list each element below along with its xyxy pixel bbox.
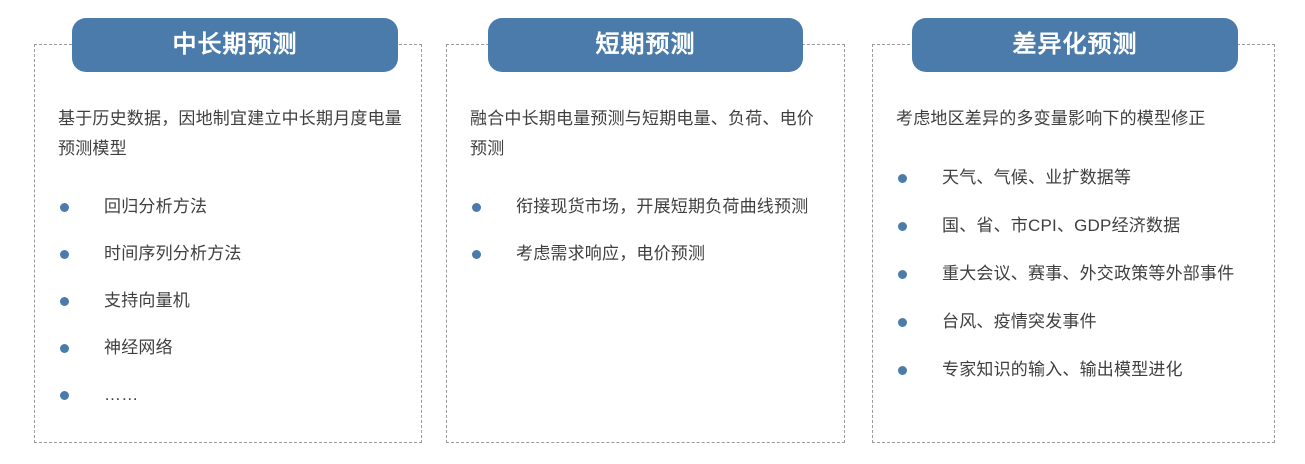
- list-item-label: 国、省、市CPI、GDP经济数据: [942, 216, 1180, 235]
- panel-content-short-term-forecast: 融合中长期电量预测与短期电量、负荷、电价预测 衔接现货市场，开展短期负荷曲线预测…: [470, 104, 830, 269]
- bullet-dot-icon: [472, 250, 481, 259]
- list-item: 时间序列分析方法: [58, 239, 406, 269]
- list-item-label: ……: [104, 385, 138, 404]
- list-item-label: 支持向量机: [104, 291, 190, 310]
- list-item-label: 回归分析方法: [104, 197, 207, 216]
- bullet-list-differentiated-forecast: 天气、气候、业扩数据等 国、省、市CPI、GDP经济数据 重大会议、赛事、外交政…: [896, 163, 1264, 385]
- list-item: 回归分析方法: [58, 192, 406, 222]
- list-item: 台风、疫情突发事件: [896, 307, 1264, 337]
- bullet-dot-icon: [60, 391, 69, 400]
- list-item: ……: [58, 380, 406, 410]
- bullet-dot-icon: [60, 203, 69, 212]
- list-item: 天气、气候、业扩数据等: [896, 163, 1264, 193]
- panel-intro-text: 考虑地区差异的多变量影响下的模型修正: [896, 104, 1264, 134]
- forecast-overview-diagram: 中长期预测 基于历史数据，因地制宜建立中长期月度电量预测模型 回归分析方法 时间…: [0, 0, 1305, 464]
- list-item: 国、省、市CPI、GDP经济数据: [896, 211, 1264, 241]
- bullet-dot-icon: [898, 270, 907, 279]
- list-item-label: 天气、气候、业扩数据等: [942, 168, 1131, 187]
- bullet-list-short-term-forecast: 衔接现货市场，开展短期负荷曲线预测 考虑需求响应，电价预测: [470, 192, 830, 269]
- list-item-label: 台风、疫情突发事件: [942, 312, 1097, 331]
- list-item: 神经网络: [58, 333, 406, 363]
- list-item: 衔接现货市场，开展短期负荷曲线预测: [470, 192, 830, 222]
- bullet-dot-icon: [60, 297, 69, 306]
- panel-title-short-term-forecast: 短期预测: [488, 18, 803, 72]
- list-item-label: 衔接现货市场，开展短期负荷曲线预测: [516, 197, 808, 216]
- bullet-dot-icon: [472, 203, 481, 212]
- list-item-label: 神经网络: [104, 338, 173, 357]
- list-item-label: 专家知识的输入、输出模型进化: [942, 360, 1183, 379]
- list-item: 考虑需求响应，电价预测: [470, 239, 830, 269]
- list-item-label: 考虑需求响应，电价预测: [516, 244, 705, 263]
- list-item: 支持向量机: [58, 286, 406, 316]
- panel-intro-text: 融合中长期电量预测与短期电量、负荷、电价预测: [470, 104, 830, 164]
- bullet-dot-icon: [60, 344, 69, 353]
- panel-content-differentiated-forecast: 考虑地区差异的多变量影响下的模型修正 天气、气候、业扩数据等 国、省、市CPI、…: [896, 104, 1264, 385]
- bullet-dot-icon: [898, 174, 907, 183]
- panel-title-differentiated-forecast: 差异化预测: [912, 18, 1238, 72]
- panel-content-medium-long-term-forecast: 基于历史数据，因地制宜建立中长期月度电量预测模型 回归分析方法 时间序列分析方法…: [58, 104, 406, 410]
- panel-title-medium-long-term-forecast: 中长期预测: [72, 18, 398, 72]
- list-item: 重大会议、赛事、外交政策等外部事件: [896, 259, 1264, 289]
- list-item-label: 重大会议、赛事、外交政策等外部事件: [942, 264, 1234, 283]
- bullet-dot-icon: [60, 250, 69, 259]
- bullet-dot-icon: [898, 222, 907, 231]
- list-item-label: 时间序列分析方法: [104, 244, 242, 263]
- bullet-dot-icon: [898, 366, 907, 375]
- bullet-list-medium-long-term-forecast: 回归分析方法 时间序列分析方法 支持向量机 神经网络 ……: [58, 192, 406, 410]
- list-item: 专家知识的输入、输出模型进化: [896, 355, 1264, 385]
- panel-intro-text: 基于历史数据，因地制宜建立中长期月度电量预测模型: [58, 104, 406, 164]
- bullet-dot-icon: [898, 318, 907, 327]
